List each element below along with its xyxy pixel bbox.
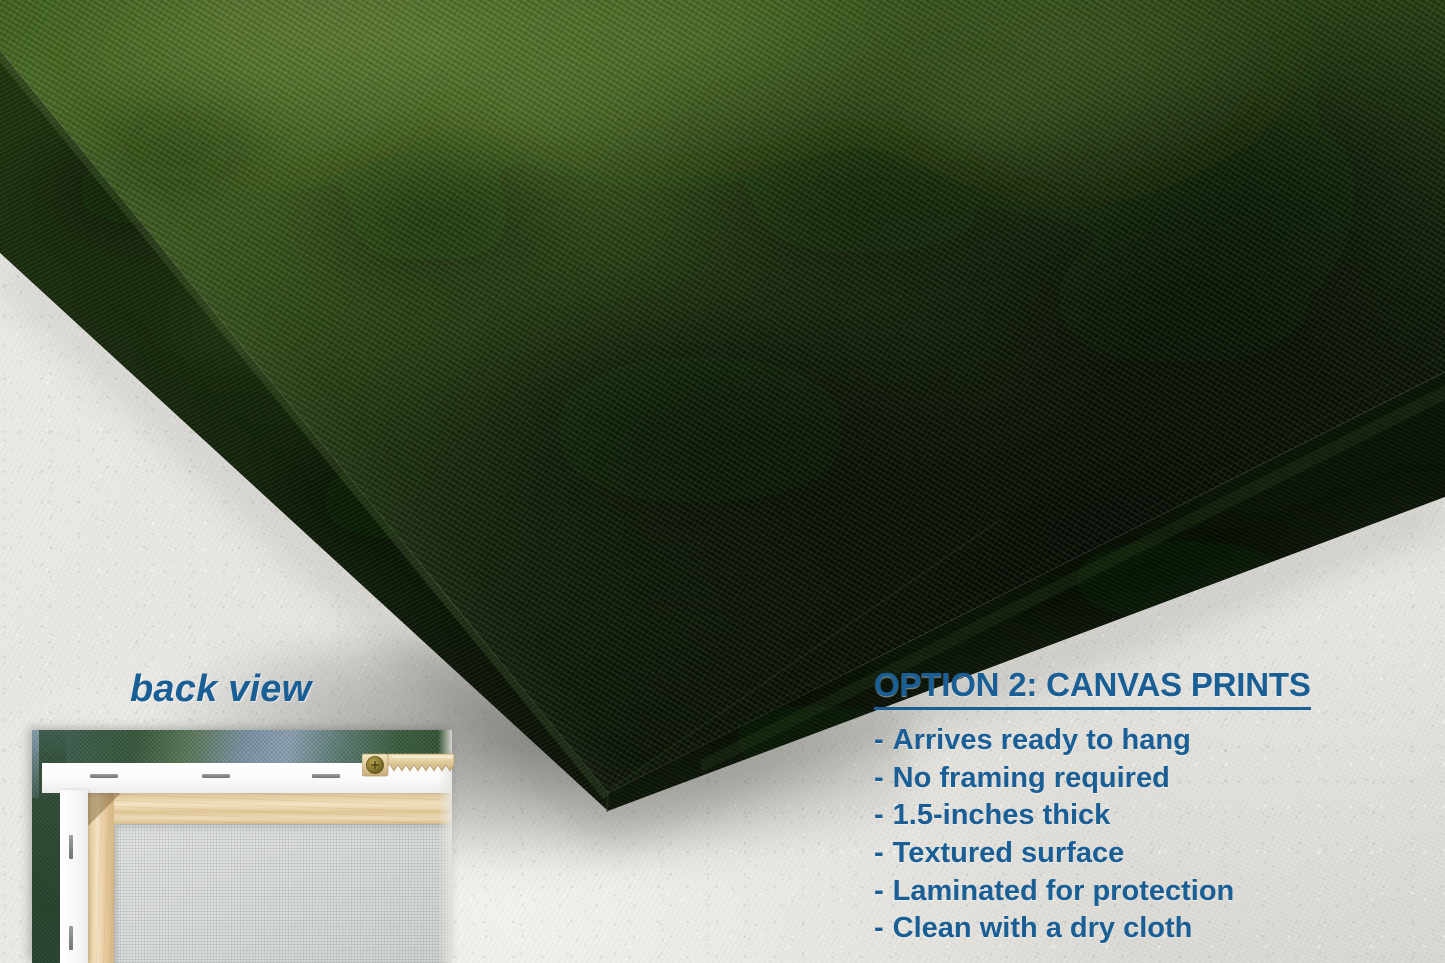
marketing-copy-block: OPTION 2: CANVAS PRINTS -Arrives ready t… [874, 666, 1434, 948]
back-view-label: back view [130, 668, 311, 711]
bullet-dash: - [874, 799, 884, 831]
bullet-text: Clean with a dry cloth [893, 912, 1193, 944]
option-title: OPTION 2: CANVAS PRINTS [874, 666, 1311, 710]
thumb-stretcher-bar-top [88, 792, 452, 824]
sawtooth-hanger-icon [362, 752, 458, 788]
feature-bullet: -Clean with a dry cloth [874, 910, 1434, 948]
feature-bullet: -Laminated for protection [874, 873, 1434, 911]
feature-bullet: -Arrives ready to hang [874, 722, 1434, 760]
staple [69, 926, 73, 950]
bullet-text: 1.5-inches thick [893, 799, 1111, 831]
bullet-text: Textured surface [893, 837, 1125, 869]
staple [90, 774, 118, 778]
canvas-corner-crease [607, 790, 608, 812]
staple [312, 774, 340, 778]
feature-bullet: -Textured surface [874, 835, 1434, 873]
bullet-dash: - [874, 875, 884, 907]
thumb-canvas-flap-left [60, 790, 88, 963]
staple [69, 835, 73, 859]
feature-bullet-list: -Arrives ready to hang -No framing requi… [874, 722, 1434, 948]
bullet-dash: - [874, 837, 884, 869]
bullet-text: No framing required [893, 762, 1170, 794]
feature-bullet: -No framing required [874, 760, 1434, 798]
feature-bullet: -1.5-inches thick [874, 797, 1434, 835]
bullet-dash: - [874, 912, 884, 944]
product-mockup-scene: back view [0, 0, 1445, 963]
bullet-dash: - [874, 762, 884, 794]
thumb-inner-weave [114, 824, 452, 963]
thumb-inner-canvas [114, 824, 452, 963]
bullet-dash: - [874, 724, 884, 756]
thumb-stretcher-miter-joint [88, 792, 122, 826]
bullet-text: Arrives ready to hang [893, 724, 1191, 756]
staple [202, 774, 230, 778]
bullet-text: Laminated for protection [893, 875, 1235, 907]
thumb-left-edge-highlight [32, 730, 39, 798]
